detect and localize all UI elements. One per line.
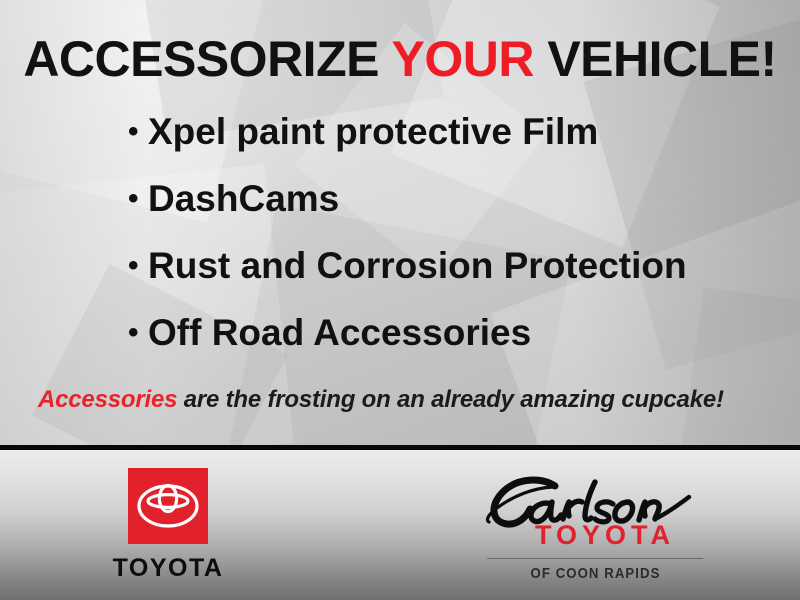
list-item: • Off Road Accessories [128, 314, 788, 381]
list-item: • Rust and Corrosion Protection [128, 247, 788, 314]
carlson-toyota-brand: TOYOTA [535, 522, 675, 549]
carlson-location: OF COON RAPIDS [497, 566, 695, 581]
headline: ACCESSORIZE YOUR VEHICLE! [0, 32, 800, 87]
toyota-logo-lockup: TOYOTA [108, 468, 228, 581]
tagline-emphasis: Accessories [38, 386, 177, 413]
list-item: • DashCams [128, 180, 788, 247]
footer: TOYOTA [0, 450, 800, 600]
bullet-dot-icon: • [128, 113, 148, 151]
bullet-dot-icon: • [128, 314, 148, 352]
list-item-label: Xpel paint protective Film [148, 113, 788, 150]
accessory-list: • Xpel paint protective Film • DashCams … [128, 113, 788, 381]
list-item-label: Off Road Accessories [148, 314, 788, 351]
accessorize-vehicle-ad: ACCESSORIZE YOUR VEHICLE! • Xpel paint p… [0, 0, 800, 600]
toyota-wordmark: TOYOTA [108, 556, 228, 581]
headline-part-after: VEHICLE! [534, 31, 777, 87]
list-item-label: Rust and Corrosion Protection [148, 247, 788, 284]
toyota-emblem-icon [128, 468, 208, 544]
list-item-label: DashCams [148, 180, 788, 217]
carlson-logo-lockup: TOYOTA OF COON RAPIDS [483, 474, 708, 536]
tagline-rest: are the frosting on an already amazing c… [177, 386, 724, 413]
bullet-dot-icon: • [128, 247, 148, 285]
carlson-divider-rule [487, 558, 703, 559]
headline-part-before: ACCESSORIZE [23, 31, 391, 87]
list-item: • Xpel paint protective Film [128, 113, 788, 180]
tagline: Accessories are the frosting on an alrea… [38, 386, 778, 414]
bullet-dot-icon: • [128, 180, 148, 218]
headline-highlight-your: YOUR [391, 31, 533, 87]
